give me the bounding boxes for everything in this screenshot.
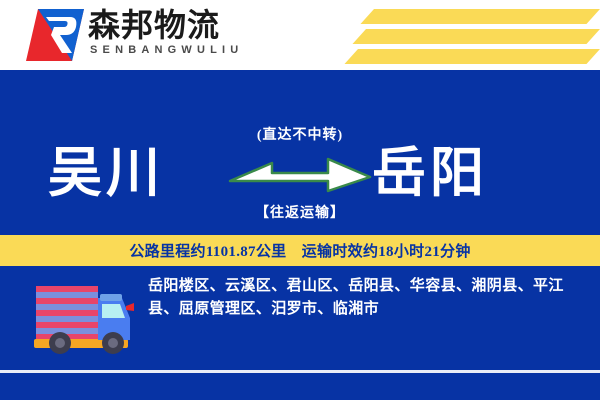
bottom-divider bbox=[0, 370, 600, 373]
header-decorative-stripes bbox=[300, 0, 600, 70]
delivery-truck-icon bbox=[26, 278, 136, 356]
direct-service-label: (直达不中转) bbox=[225, 124, 375, 144]
distance-duration-text: 公路里程约1101.87公里 运输时效约18小时21分钟 bbox=[129, 240, 470, 261]
origin-city: 吴川 bbox=[48, 118, 238, 228]
stripe-2 bbox=[352, 29, 600, 44]
poster-header: 森邦物流 SENBANGWULIU bbox=[0, 0, 600, 70]
brand-name-cn: 森邦物流 bbox=[88, 8, 220, 42]
poster-body: 吴川 (直达不中转) 【往返运输】 岳阳 公路里程约1101.87公里 运输时效… bbox=[0, 70, 600, 400]
brand-name-en: SENBANGWULIU bbox=[90, 44, 243, 56]
logistics-route-poster: 森邦物流 SENBANGWULIU 吴川 (直达不中转) 【往返运输】 岳阳 bbox=[0, 0, 600, 400]
coverage-area-list: 岳阳楼区、云溪区、君山区、岳阳县、华容县、湘阴县、平江县、屈原管理区、汨罗市、临… bbox=[148, 275, 592, 321]
senbang-r-logo-icon bbox=[26, 9, 84, 61]
double-headed-arrow-icon bbox=[228, 151, 372, 200]
route-arrow-block: (直达不中转) 【往返运输】 bbox=[225, 118, 375, 228]
distance-duration-band: 公路里程约1101.87公里 运输时效约18小时21分钟 bbox=[0, 235, 600, 266]
round-trip-label: 【往返运输】 bbox=[225, 202, 375, 222]
route-row: 吴川 (直达不中转) 【往返运输】 岳阳 bbox=[0, 118, 600, 228]
stripe-1 bbox=[360, 9, 600, 24]
destination-city: 岳阳 bbox=[372, 118, 562, 228]
stripe-3 bbox=[344, 49, 600, 64]
